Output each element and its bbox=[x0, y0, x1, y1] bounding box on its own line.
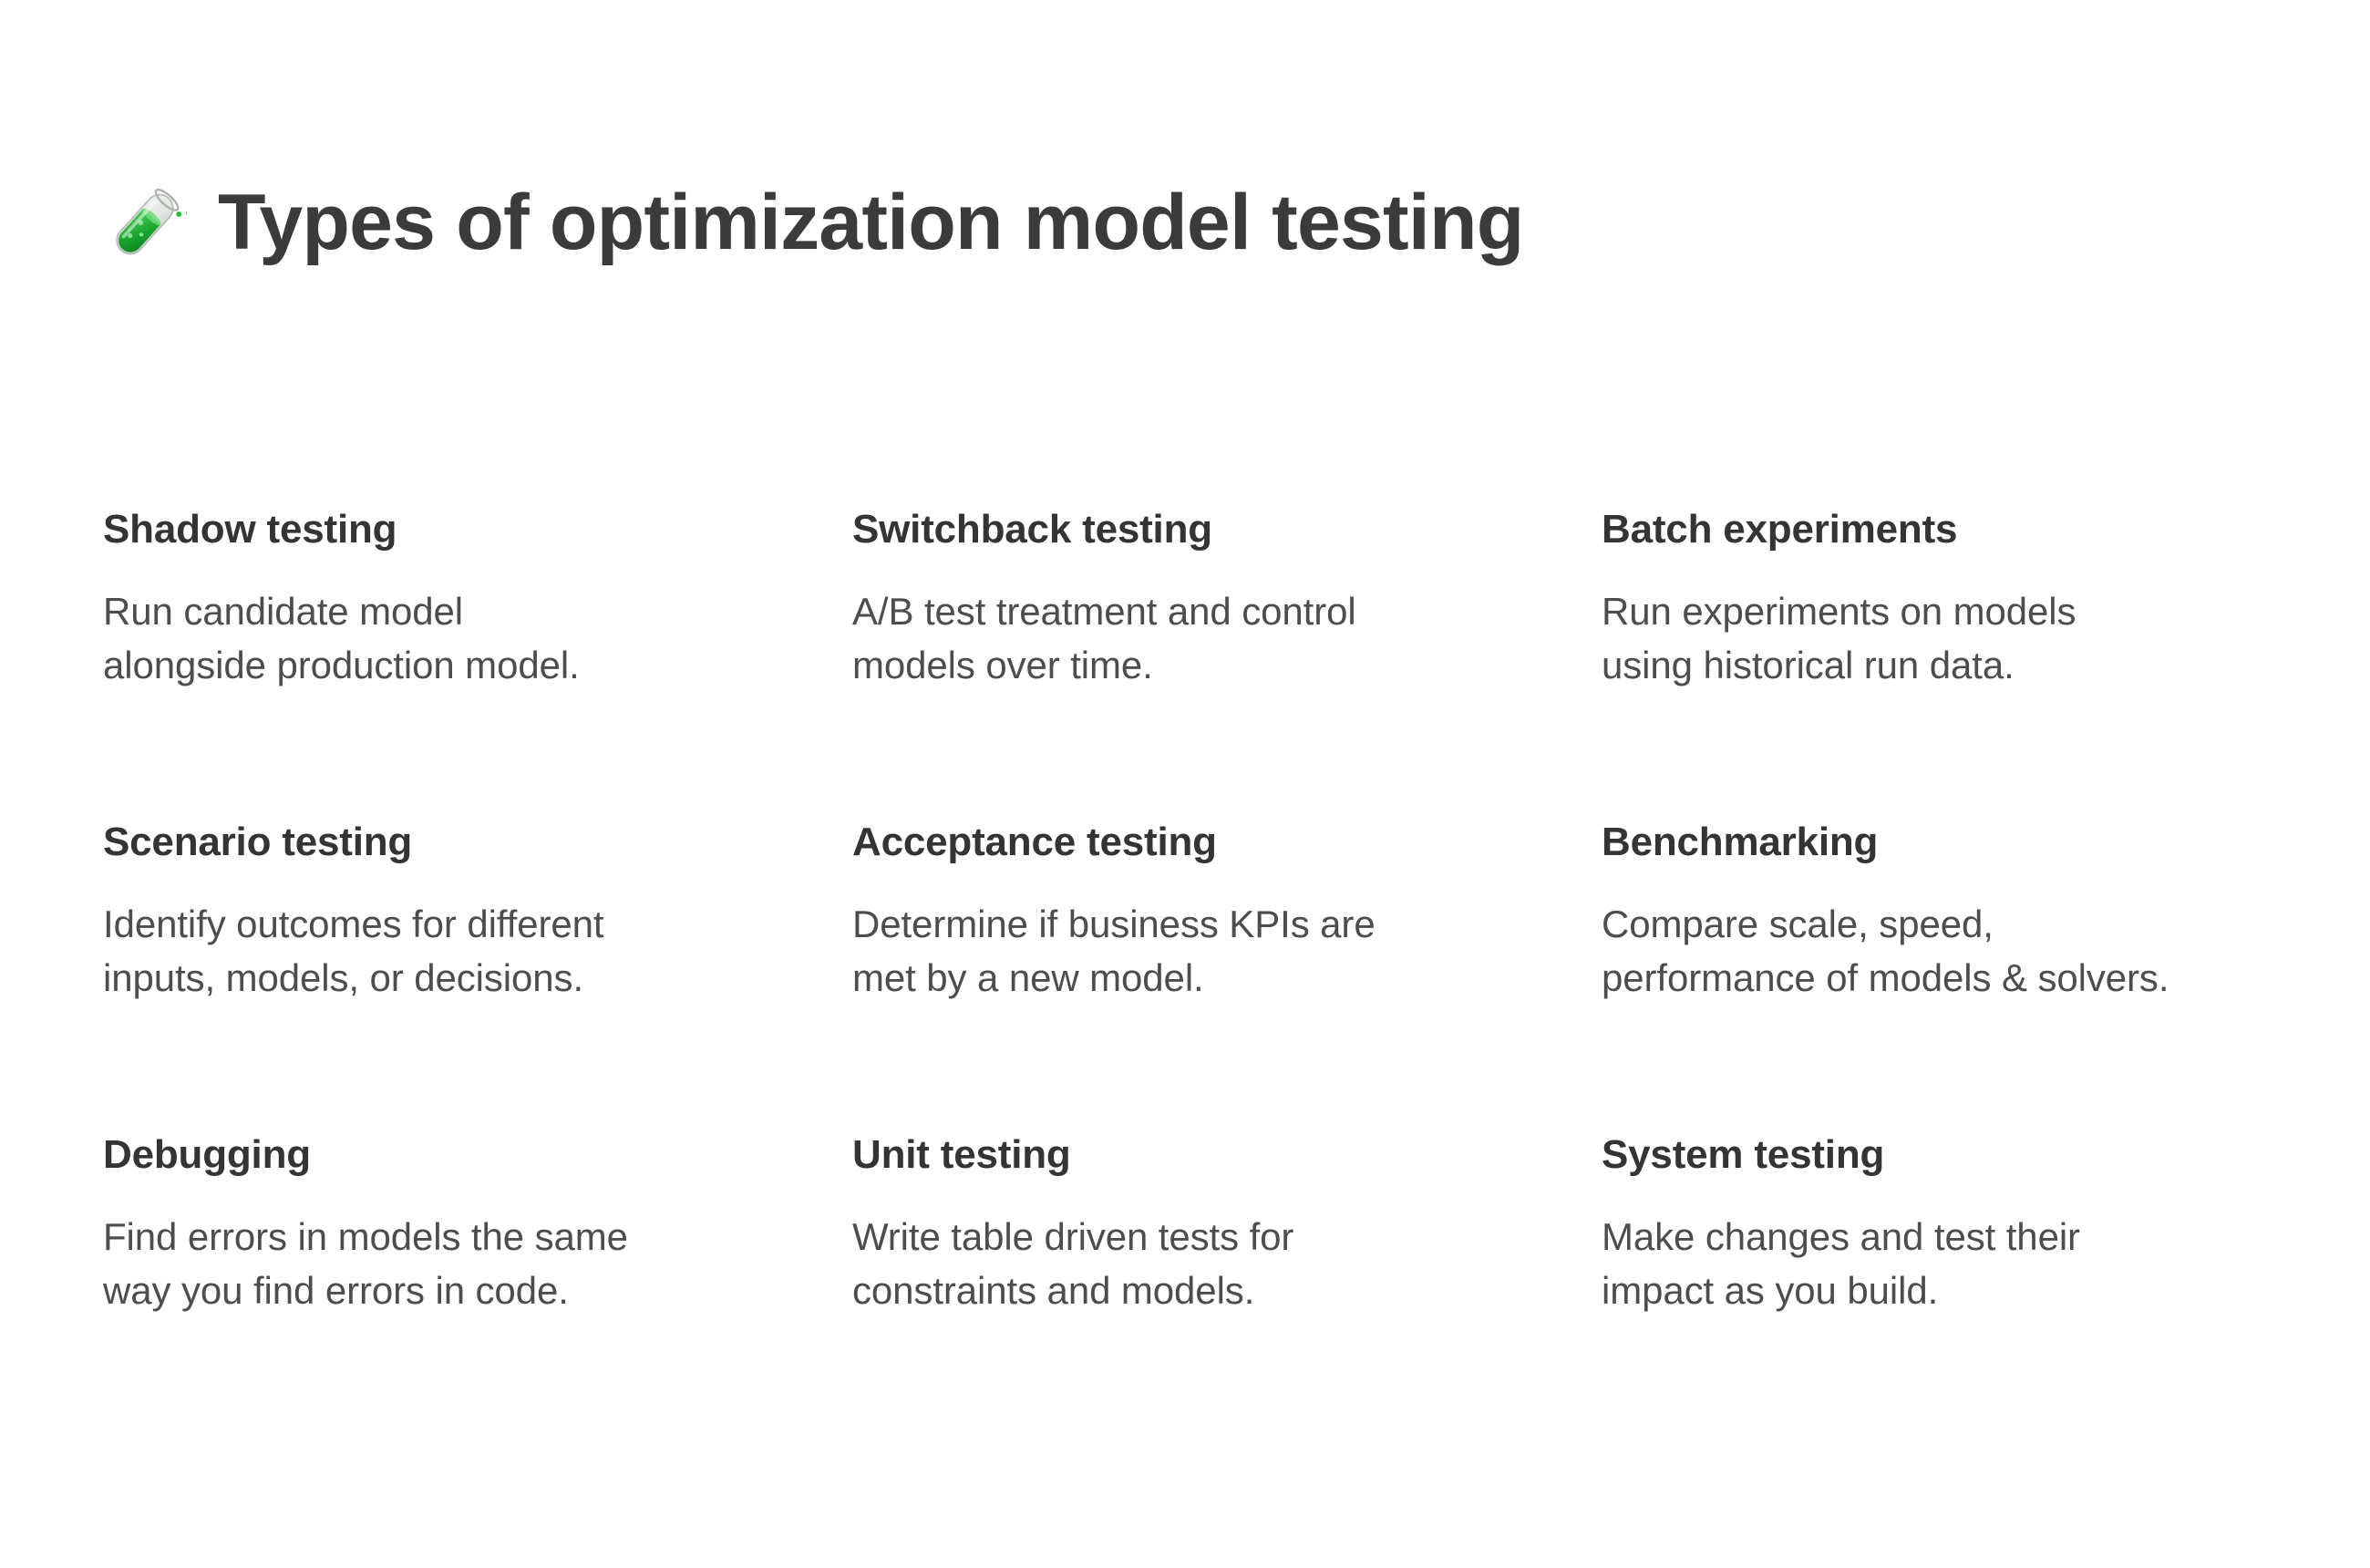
page-header: Types of optimization model testing bbox=[103, 179, 1523, 266]
card-shadow-testing: Shadow testing Run candidate model along… bbox=[103, 507, 823, 820]
card-description: Write table driven tests for constraints… bbox=[852, 1210, 1572, 1318]
card-benchmarking: Benchmarking Compare scale, speed, perfo… bbox=[1602, 820, 2322, 1132]
card-title: Shadow testing bbox=[103, 507, 823, 553]
slide-root: Types of optimization model testing Shad… bbox=[0, 0, 2370, 1568]
card-description: Run experiments on models using historic… bbox=[1602, 584, 2322, 693]
page-title: Types of optimization model testing bbox=[218, 181, 1523, 263]
card-acceptance-testing: Acceptance testing Determine if business… bbox=[852, 820, 1572, 1132]
card-description: Identify outcomes for different inputs, … bbox=[103, 897, 823, 1006]
card-description: Find errors in models the same way you f… bbox=[103, 1210, 823, 1318]
card-debugging: Debugging Find errors in models the same… bbox=[103, 1132, 823, 1318]
card-title: Switchback testing bbox=[852, 507, 1572, 553]
card-title: Acceptance testing bbox=[852, 820, 1572, 866]
card-title: Batch experiments bbox=[1602, 507, 2322, 553]
test-tube-icon bbox=[103, 181, 187, 268]
card-system-testing: System testing Make changes and test the… bbox=[1602, 1132, 2322, 1318]
card-title: Debugging bbox=[103, 1132, 823, 1179]
card-title: Benchmarking bbox=[1602, 820, 2322, 866]
card-title: System testing bbox=[1602, 1132, 2322, 1179]
card-title: Unit testing bbox=[852, 1132, 1572, 1179]
card-title: Scenario testing bbox=[103, 820, 823, 866]
card-scenario-testing: Scenario testing Identify outcomes for d… bbox=[103, 820, 823, 1132]
card-batch-experiments: Batch experiments Run experiments on mod… bbox=[1602, 507, 2322, 820]
card-description: Run candidate model alongside production… bbox=[103, 584, 823, 693]
card-description: Determine if business KPIs are met by a … bbox=[852, 897, 1572, 1006]
card-description: Make changes and test their impact as yo… bbox=[1602, 1210, 2322, 1318]
card-unit-testing: Unit testing Write table driven tests fo… bbox=[852, 1132, 1572, 1318]
testing-types-grid: Shadow testing Run candidate model along… bbox=[103, 507, 2291, 1318]
card-switchback-testing: Switchback testing A/B test treatment an… bbox=[852, 507, 1572, 820]
card-description: Compare scale, speed, performance of mod… bbox=[1602, 897, 2322, 1006]
card-description: A/B test treatment and control models ov… bbox=[852, 584, 1572, 693]
